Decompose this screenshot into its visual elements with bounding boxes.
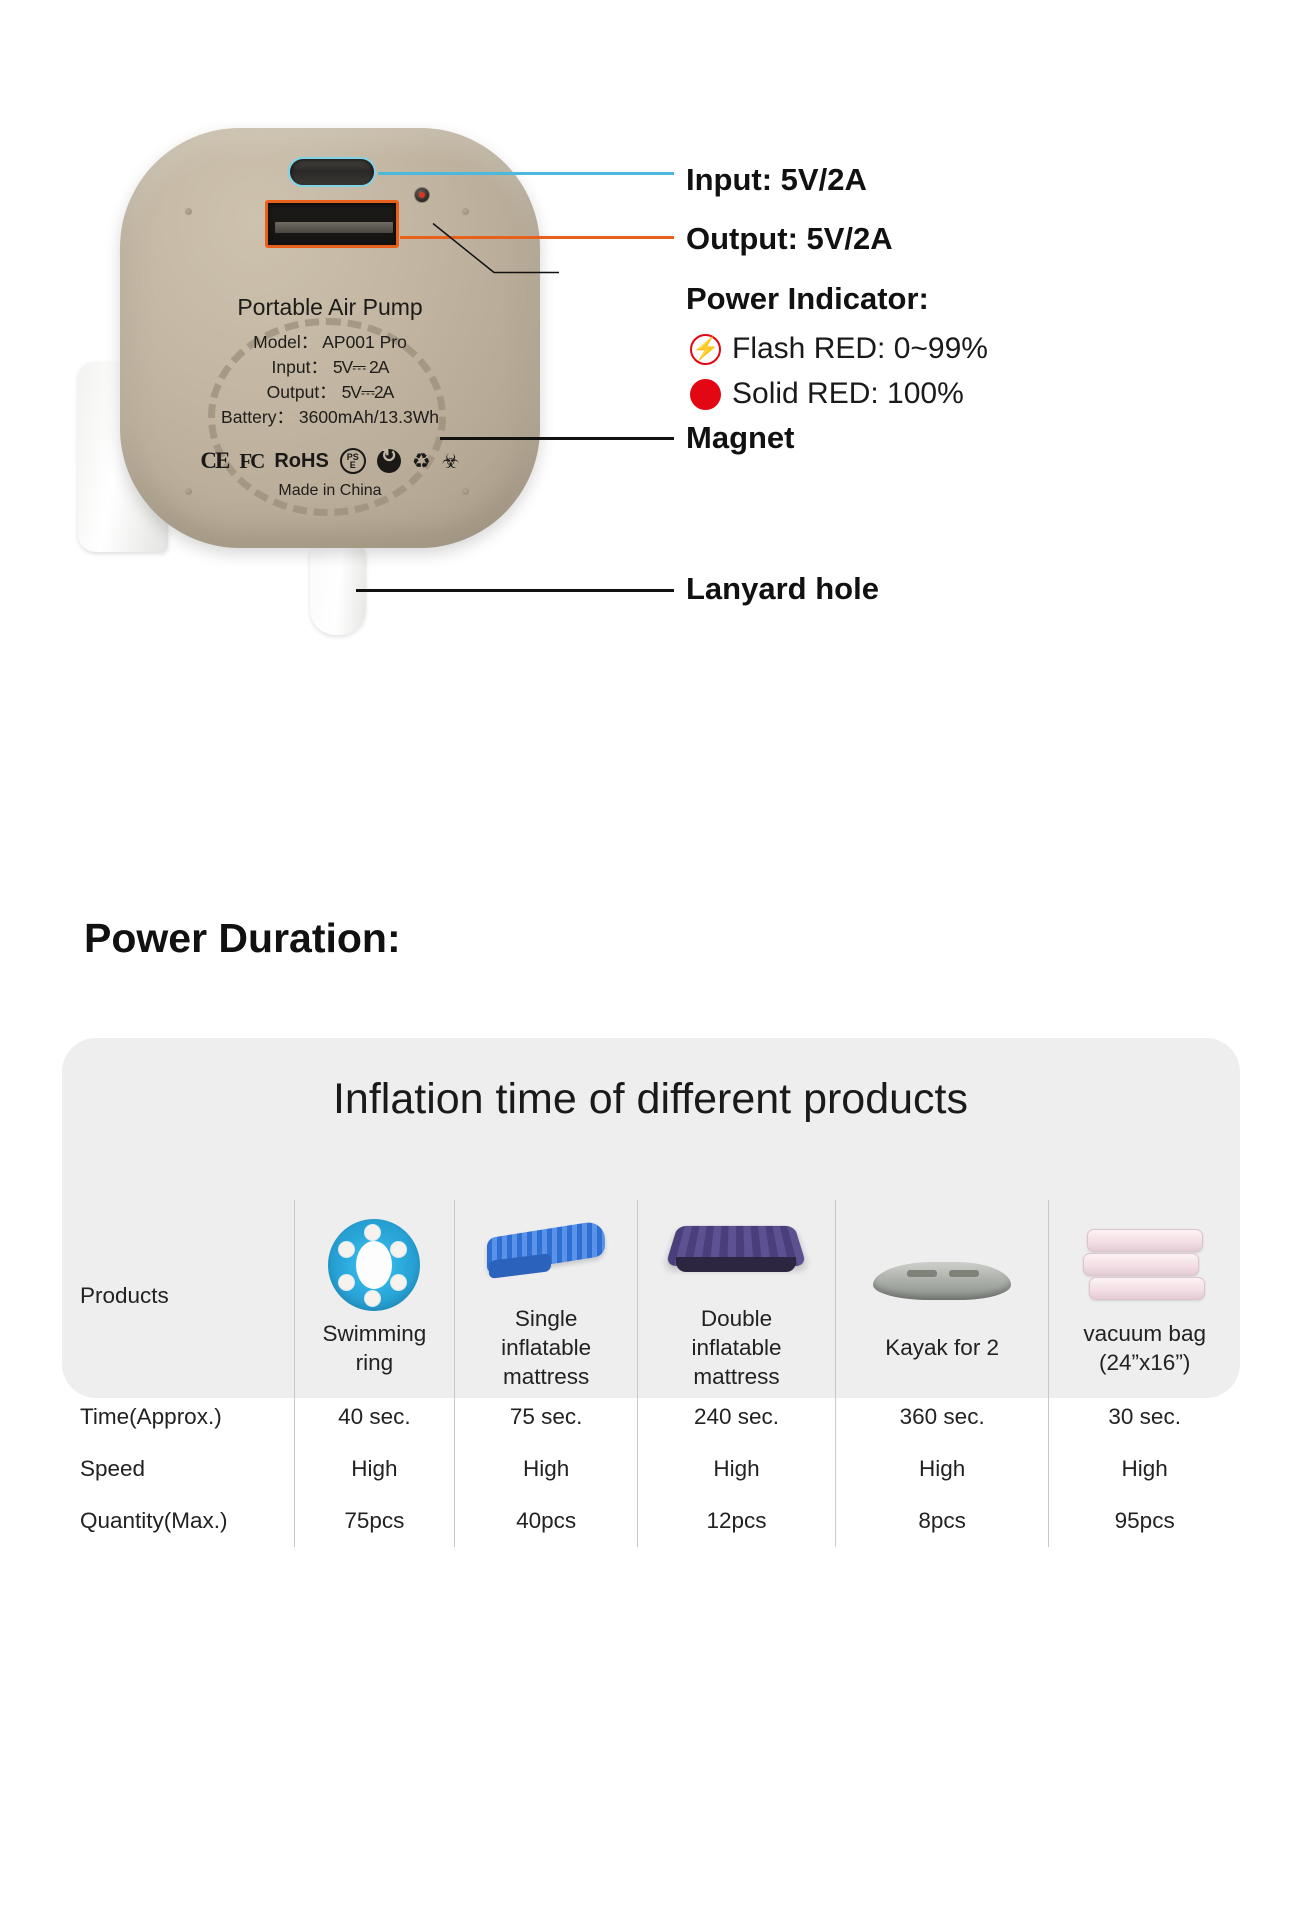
table-row-quantity: Quantity(Max.) 75pcs 40pcs 12pcs 8pcs 95… — [62, 1495, 1240, 1547]
cell-speed-3: High — [836, 1443, 1049, 1495]
callout-line-lanyard — [356, 589, 674, 592]
cell-quantity-1: 40pcs — [455, 1495, 638, 1547]
inflation-table-title: Inflation time of different products — [0, 1075, 1301, 1124]
cell-quantity-4: 95pcs — [1049, 1495, 1240, 1547]
double-mattress-image — [638, 1200, 835, 1300]
indicator-flash-row: Flash RED: 0~99% — [690, 332, 988, 366]
vacuum-bag-image — [1049, 1215, 1240, 1315]
product-name-0: Swimming ring — [295, 1315, 455, 1377]
cell-speed-2: High — [637, 1443, 835, 1495]
table-cell-product-0: Swimming ring — [294, 1200, 455, 1391]
callout-line-input — [378, 172, 674, 175]
recycle-arrow-icon — [377, 449, 401, 473]
row-header-products: Products — [62, 1200, 294, 1391]
callout-line-magnet — [440, 437, 674, 440]
table-row-time: Time(Approx.) 40 sec. 75 sec. 240 sec. 3… — [62, 1391, 1240, 1443]
red-dot-icon — [690, 379, 721, 410]
table-row-products: Products Swimming ring — [62, 1200, 1240, 1391]
spec-row-model: Model： AP001 Pro — [120, 330, 540, 355]
inflation-time-table: Products Swimming ring — [62, 1200, 1240, 1547]
cell-quantity-2: 12pcs — [637, 1495, 835, 1547]
spec-key: Input： — [272, 357, 328, 377]
callout-input-label: Input: 5V/2A — [686, 164, 867, 195]
device-spec-list: Model： AP001 Pro Input： 5V⎓ 2A Output： 5… — [120, 330, 540, 430]
cell-time-4: 30 sec. — [1049, 1391, 1240, 1443]
pse-mark-icon: PSE — [340, 448, 366, 474]
row-header-speed: Speed — [62, 1443, 294, 1495]
product-name-2: Double inflatable mattress — [638, 1300, 835, 1391]
callout-magnet-label: Magnet — [686, 422, 795, 453]
cell-speed-0: High — [294, 1443, 455, 1495]
callout-lanyard-label: Lanyard hole — [686, 573, 879, 604]
ce-mark-icon: CE — [200, 448, 228, 474]
cell-time-1: 75 sec. — [455, 1391, 638, 1443]
cell-time-3: 360 sec. — [836, 1391, 1049, 1443]
indicator-flash-label: Flash RED: 0~99% — [732, 332, 988, 366]
product-infographic-page: Portable Air Pump Model： AP001 Pro Input… — [0, 0, 1301, 1920]
spec-row-input: Input： 5V⎓ 2A — [120, 355, 540, 380]
recycle-triangle-icon: ♻ — [412, 449, 431, 474]
single-mattress-image — [455, 1200, 637, 1300]
usb-a-output-port — [265, 200, 399, 248]
row-header-quantity: Quantity(Max.) — [62, 1495, 294, 1547]
table-cell-product-4: vacuum bag (24”x16”) — [1049, 1200, 1240, 1391]
spec-row-battery: Battery： 3600mAh/13.3Wh — [120, 405, 540, 430]
spec-row-output: Output： 5V⎓2A — [120, 380, 540, 405]
callout-output-label: Output: 5V/2A — [686, 223, 893, 254]
spec-value: 5V⎓ 2A — [333, 357, 389, 377]
table-row-speed: Speed High High High High High — [62, 1443, 1240, 1495]
cell-speed-1: High — [455, 1443, 638, 1495]
spec-value: 3600mAh/13.3Wh — [299, 407, 439, 427]
cell-time-0: 40 sec. — [294, 1391, 455, 1443]
table-cell-product-1: Single inflatable mattress — [455, 1200, 638, 1391]
callout-line-power-indicator — [430, 196, 560, 300]
row-header-time: Time(Approx.) — [62, 1391, 294, 1443]
callout-power-indicator-label: Power Indicator: — [686, 283, 929, 314]
rohs-mark-icon: RoHS — [274, 450, 328, 473]
product-name-4: vacuum bag (24”x16”) — [1049, 1315, 1240, 1377]
indicator-solid-label: Solid RED: 100% — [732, 377, 964, 411]
power-indicator-led — [414, 187, 430, 203]
screw-icon — [185, 208, 192, 215]
weee-bin-icon: ☣ — [442, 449, 460, 474]
certification-marks: CE FC RoHS PSE ♻ ☣ — [120, 448, 540, 474]
table-cell-product-3: Kayak for 2 — [836, 1200, 1049, 1391]
cell-quantity-0: 75pcs — [294, 1495, 455, 1547]
spec-key: Model： — [253, 332, 318, 352]
spec-key: Battery： — [221, 407, 294, 427]
cell-speed-4: High — [1049, 1443, 1240, 1495]
spec-value: 5V⎓2A — [342, 382, 394, 402]
inflation-table-wrap: Products Swimming ring — [62, 1200, 1240, 1398]
kayak-image — [836, 1229, 1048, 1329]
usb-c-input-port — [288, 157, 376, 187]
lightning-bolt-icon — [690, 334, 721, 365]
table-cell-product-2: Double inflatable mattress — [637, 1200, 835, 1391]
product-name-1: Single inflatable mattress — [455, 1300, 637, 1391]
made-in-label: Made in China — [120, 482, 540, 500]
spec-key: Output： — [267, 382, 337, 402]
indicator-solid-row: Solid RED: 100% — [690, 377, 964, 411]
power-duration-title: Power Duration: — [84, 915, 401, 962]
swimming-ring-image — [295, 1215, 455, 1315]
spec-value: AP001 Pro — [322, 332, 407, 352]
fcc-mark-icon: FC — [239, 449, 263, 474]
cell-time-2: 240 sec. — [637, 1391, 835, 1443]
pump-diagram: Portable Air Pump Model： AP001 Pro Input… — [0, 0, 1301, 700]
product-name-3: Kayak for 2 — [836, 1329, 1048, 1362]
cell-quantity-3: 8pcs — [836, 1495, 1049, 1547]
